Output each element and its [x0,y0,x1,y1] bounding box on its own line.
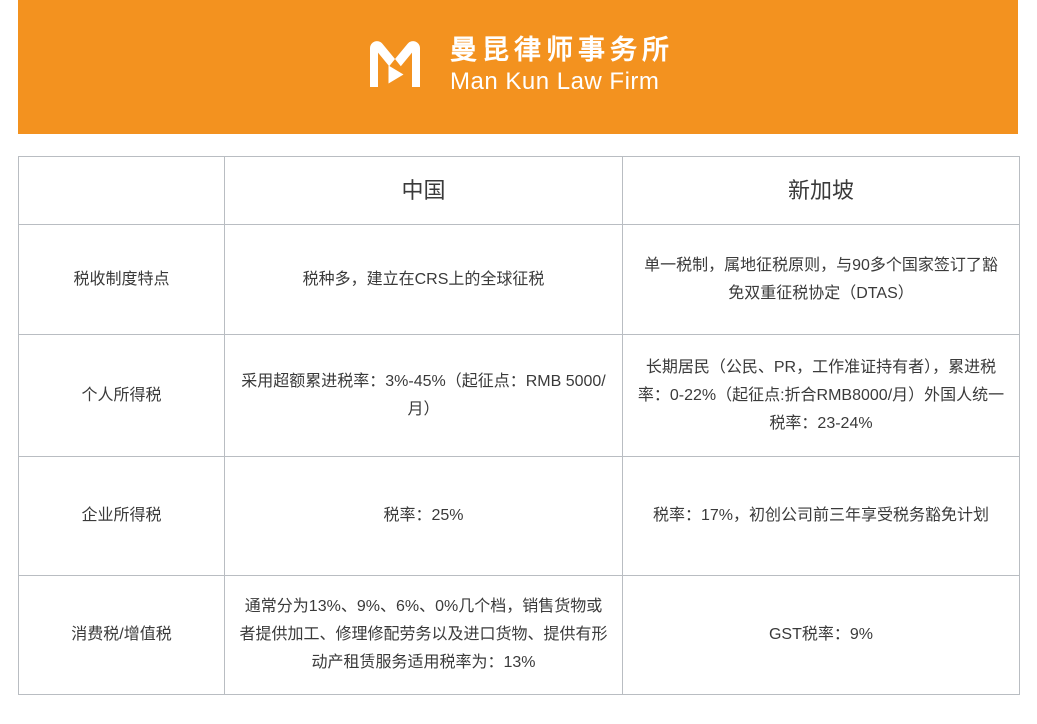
header-cell-blank [19,157,225,225]
row-label-individual-income-tax: 个人所得税 [19,335,225,457]
brand-lockup: 曼昆律师事务所 Man Kun Law Firm [362,35,674,96]
cell-china-corporate-income-tax: 税率：25% [225,457,623,576]
brand-name-en: Man Kun Law Firm [450,68,674,96]
table-row: 个人所得税 采用超额累进税率：3%-45%（起征点：RMB 5000/月） 长期… [19,335,1020,457]
header-cell-china: 中国 [225,157,623,225]
cell-singapore-individual-income-tax: 长期居民（公民、PR，工作准证持有者），累进税率：0-22%（起征点:折合RMB… [623,335,1020,457]
brand-text-block: 曼昆律师事务所 Man Kun Law Firm [450,35,674,96]
cell-china-tax-system: 税种多，建立在CRS上的全球征税 [225,225,623,335]
brand-name-cn: 曼昆律师事务所 [450,35,674,66]
row-label-consumption-vat: 消费税/增值税 [19,576,225,695]
row-label-tax-system: 税收制度特点 [19,225,225,335]
cell-china-consumption-vat: 通常分为13%、9%、6%、0%几个档，销售货物或者提供加工、修理修配劳务以及进… [225,576,623,695]
cell-singapore-tax-system: 单一税制，属地征税原则，与90多个国家签订了豁免双重征税协定（DTAS） [623,225,1020,335]
cell-singapore-consumption-vat: GST税率：9% [623,576,1020,695]
tax-comparison-table: 中国 新加坡 税收制度特点 税种多，建立在CRS上的全球征税 单一税制，属地征税… [18,156,1020,695]
tax-comparison-table-wrapper: 中国 新加坡 税收制度特点 税种多，建立在CRS上的全球征税 单一税制，属地征税… [18,156,1019,695]
mankun-m-play-logo-icon [362,35,428,95]
table-row: 企业所得税 税率：25% 税率：17%，初创公司前三年享受税务豁免计划 [19,457,1020,576]
table-row: 税收制度特点 税种多，建立在CRS上的全球征税 单一税制，属地征税原则，与90多… [19,225,1020,335]
header-cell-singapore: 新加坡 [623,157,1020,225]
cell-china-individual-income-tax: 采用超额累进税率：3%-45%（起征点：RMB 5000/月） [225,335,623,457]
cell-singapore-corporate-income-tax: 税率：17%，初创公司前三年享受税务豁免计划 [623,457,1020,576]
table-row: 消费税/增值税 通常分为13%、9%、6%、0%几个档，销售货物或者提供加工、修… [19,576,1020,695]
row-label-corporate-income-tax: 企业所得税 [19,457,225,576]
table-header-row: 中国 新加坡 [19,157,1020,225]
brand-banner: 曼昆律师事务所 Man Kun Law Firm [18,0,1018,134]
